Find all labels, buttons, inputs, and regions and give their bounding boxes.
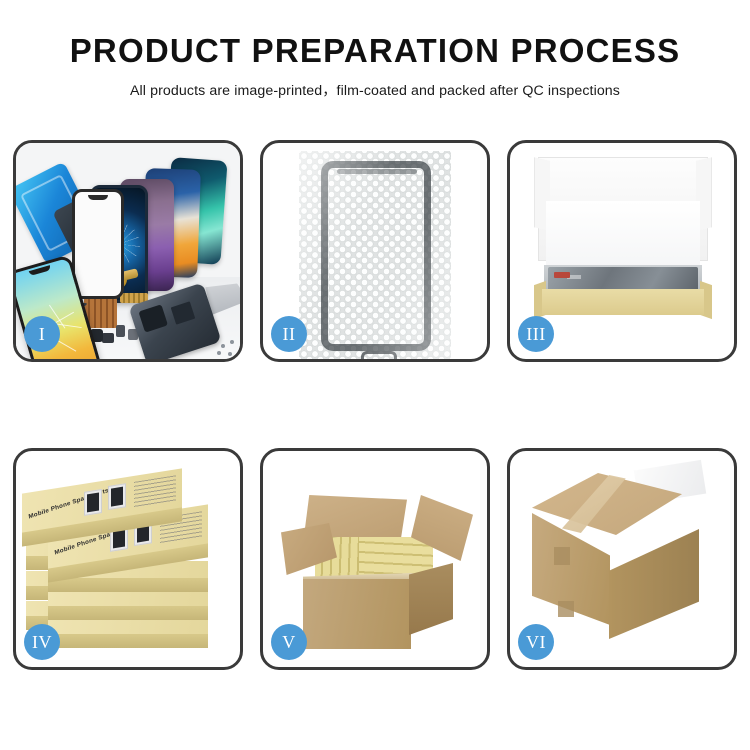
box-front-panel-icon [542,289,704,315]
step-panel-6: VI [507,448,737,670]
step-badge-3: III [518,316,554,352]
infographic-page: PRODUCT PREPARATION PROCESS All products… [0,0,750,750]
small-module-icon [116,325,125,337]
step-badge-6: VI [518,624,554,660]
carton-right-face-icon [609,529,699,639]
process-grid: I II III [13,140,737,670]
step-panel-3: III [507,140,737,362]
carton-tab-upper-icon [554,547,570,565]
front-glass-icon [72,189,124,299]
step-panel-4: Mobile Phone Spare Parts Mobile Phone Sp… [13,448,243,670]
step-badge-4: IV [24,624,60,660]
ic-chip-icon [102,333,114,343]
step-badge-1: I [24,316,60,352]
packed-screen-icon [548,267,698,291]
header: PRODUCT PREPARATION PROCESS All products… [0,0,750,100]
carton-tab-lower-icon [558,601,574,617]
carton-side-panel-icon [409,563,453,635]
film-gloss-icon [299,151,451,359]
step-badge-2: II [271,316,307,352]
step-panel-1: I [13,140,243,362]
step-panel-2: II [260,140,490,362]
page-title: PRODUCT PREPARATION PROCESS [0,34,750,69]
stacked-box-labeled: Mobile Phone Spare Parts [22,468,182,533]
page-subtitle: All products are image-printed，film-coat… [0,80,750,100]
carton-front-panel-icon [303,579,411,649]
foam-insert-icon [546,201,700,275]
step-badge-5: V [271,624,307,660]
step-panel-5: V [260,448,490,670]
